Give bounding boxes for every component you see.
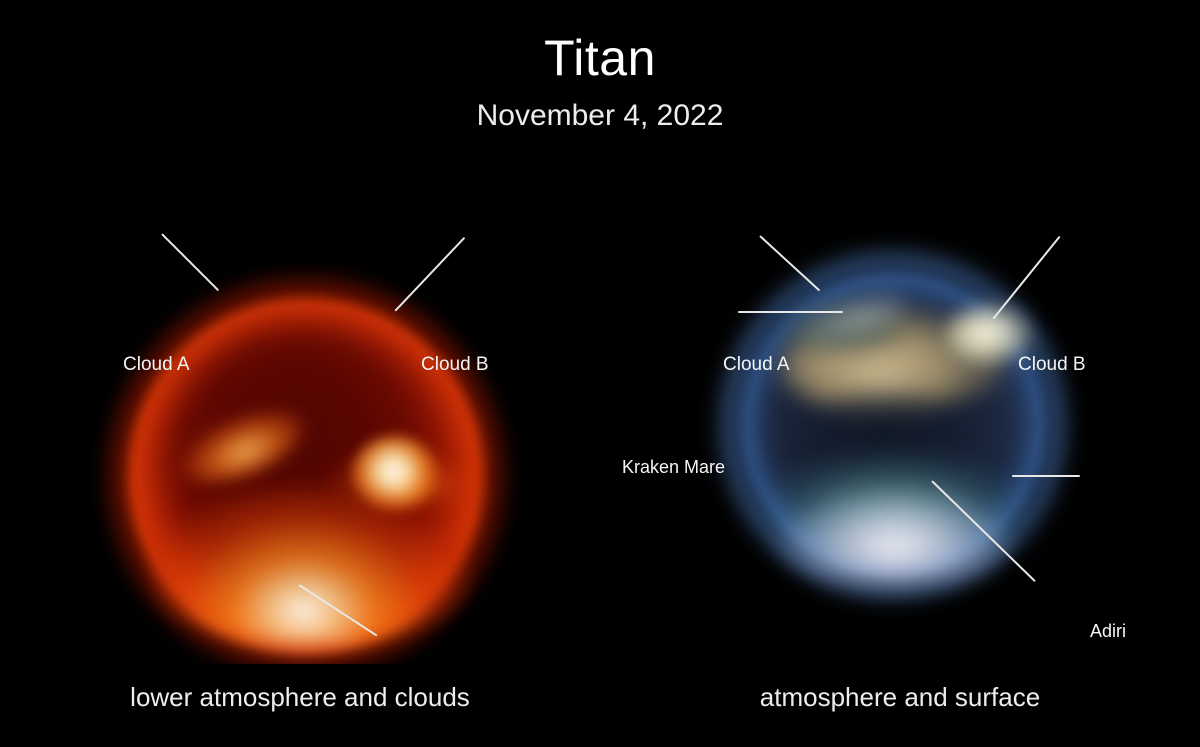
annotation-label-kraken-mare: Kraken Mare <box>622 458 725 476</box>
panel-atmosphere-and-surface: Cloud A Cloud B Kraken Mare Adiri Belet <box>596 156 1200 664</box>
panel-lower-atmosphere-and-clouds: Cloud A Cloud B Atmospheric Haze <box>0 156 593 664</box>
caption-lower-atmosphere-and-clouds: lower atmosphere and clouds <box>30 684 570 710</box>
leader-line-kraken-mare <box>738 311 843 313</box>
right-disk-south-limb-glow <box>782 494 1008 586</box>
observation-date: November 4, 2022 <box>0 101 1200 131</box>
annotation-label-cloud-b: Cloud B <box>1018 355 1086 374</box>
left-disk-atmospheric-haze-feature <box>150 486 470 646</box>
page-title: Titan <box>0 33 1200 83</box>
titan-comparison-figure: Titan November 4, 2022 Cloud A Cloud B A… <box>0 0 1200 747</box>
figure-header: Titan November 4, 2022 <box>0 0 1200 131</box>
annotation-label-adiri: Adiri <box>1090 622 1126 640</box>
annotation-label-cloud-b: Cloud B <box>421 355 489 374</box>
titan-disk-infrared-image <box>0 156 593 664</box>
caption-atmosphere-and-surface: atmosphere and surface <box>640 684 1160 710</box>
annotation-label-cloud-a: Cloud A <box>723 355 790 374</box>
titan-disk-visible-color-image <box>596 156 1200 664</box>
annotation-label-cloud-a: Cloud A <box>123 355 190 374</box>
leader-line-adiri <box>1012 475 1080 477</box>
